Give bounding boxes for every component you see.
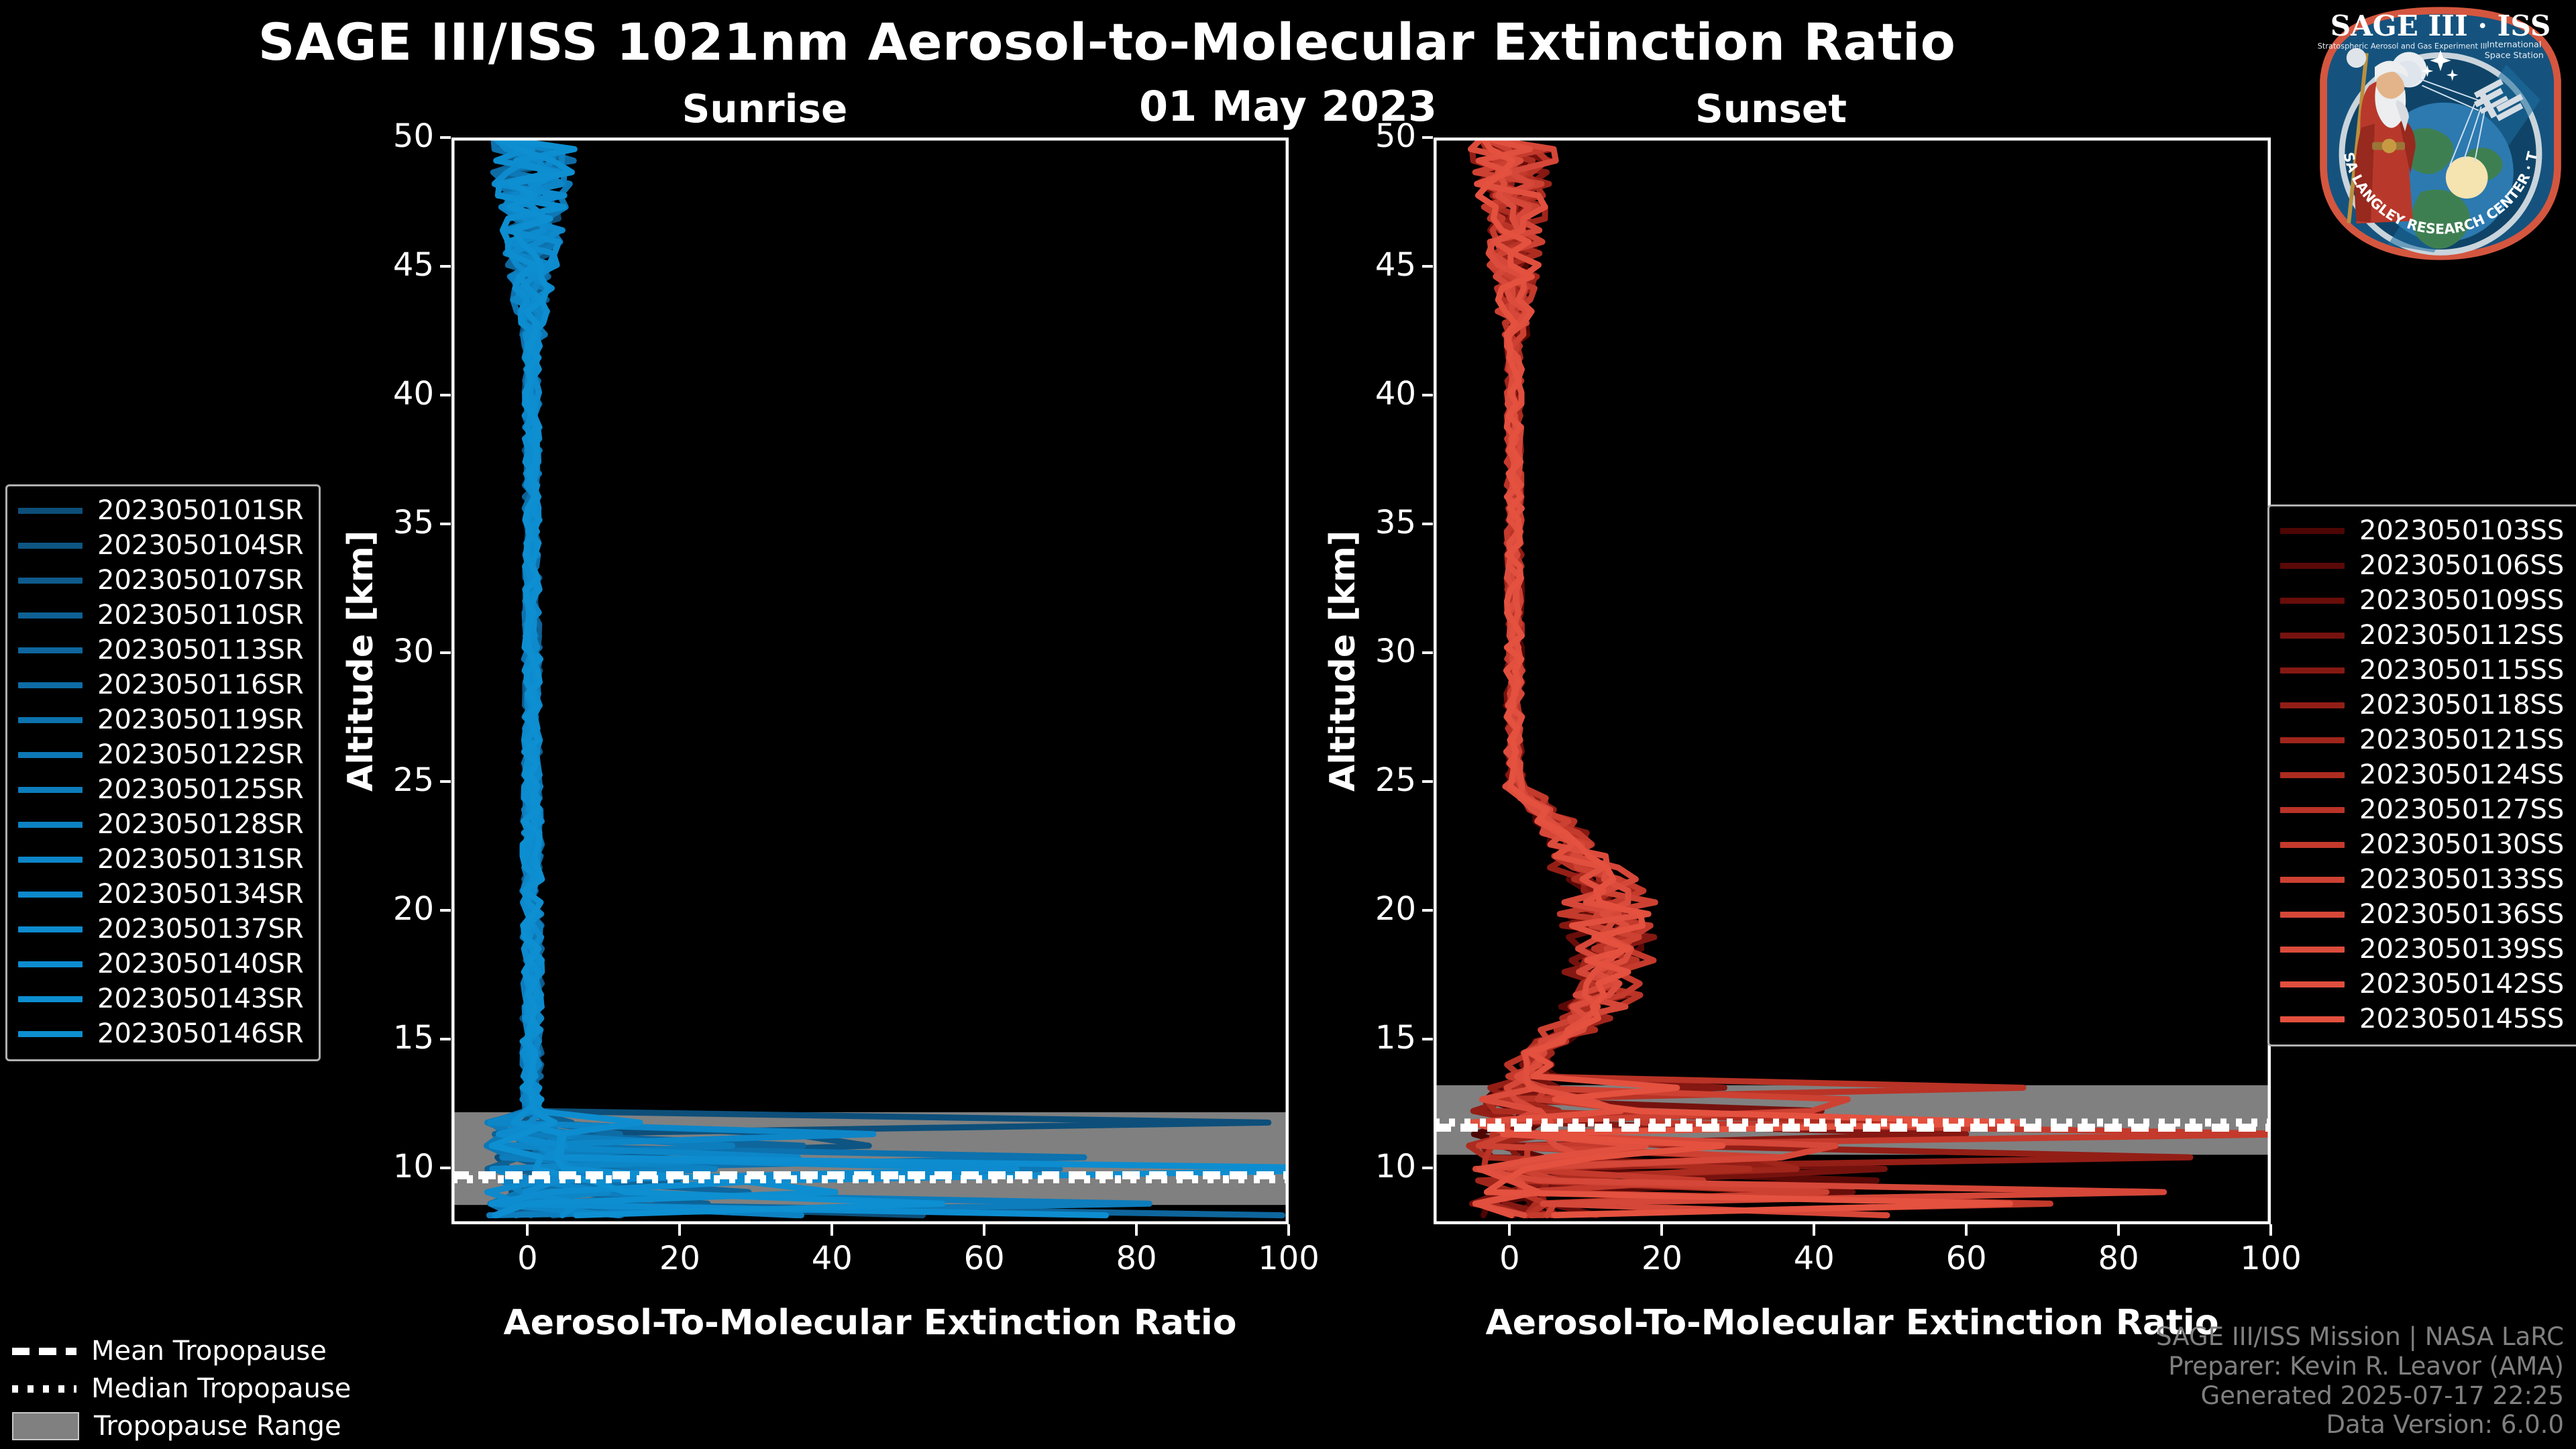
legend-item[interactable]: 2023050104SR	[18, 528, 304, 563]
legend-color-swatch	[18, 612, 83, 619]
tropopause-legend-swatch-dash	[12, 1348, 76, 1355]
y-axis-tick: 40	[354, 375, 434, 413]
x-axis-tick-mark	[526, 1224, 529, 1236]
patch-subtitle-right-1: International	[2487, 40, 2541, 50]
y-axis-tick-mark	[440, 394, 451, 396]
legend-item[interactable]: 2023050113SR	[18, 633, 304, 667]
legend-item[interactable]: 2023050136SS	[2280, 897, 2564, 932]
legend-color-swatch	[2280, 947, 2345, 953]
y-axis-tick-mark	[1422, 780, 1433, 783]
y-axis-tick: 40	[1336, 375, 1416, 413]
legend-color-swatch	[18, 647, 83, 653]
legend-color-swatch	[2280, 563, 2345, 569]
legend-item[interactable]: 2023050130SS	[2280, 827, 2564, 862]
legend-item-label: 2023050139SS	[2359, 934, 2564, 965]
x-axis-tick: 20	[1608, 1240, 1715, 1277]
x-axis-tick: 0	[474, 1240, 581, 1277]
credits-line: Generated 2025-07-17 22:25	[2156, 1381, 2564, 1411]
legend-item[interactable]: 2023050146SR	[18, 1016, 304, 1051]
credits-line: Preparer: Kevin R. Leavor (AMA)	[2156, 1352, 2564, 1381]
tropopause-legend-swatch-box	[12, 1412, 79, 1440]
patch-subtitle-left: Stratospheric Aerosol and Gas Experiment…	[2318, 42, 2487, 51]
y-axis-tick-mark	[440, 136, 451, 139]
legend-item-label: 2023050110SR	[97, 600, 304, 631]
tropopause-legend-item[interactable]: Mean Tropopause	[12, 1332, 351, 1370]
plot-background	[451, 138, 1289, 1224]
y-axis-tick-mark	[1422, 136, 1433, 139]
legend-item[interactable]: 2023050124SS	[2280, 757, 2564, 792]
y-axis-tick-mark	[1422, 1038, 1433, 1040]
legend-color-swatch	[18, 1031, 83, 1037]
y-axis-tick-mark	[1422, 265, 1433, 268]
legend-item[interactable]: 2023050101SR	[18, 493, 304, 528]
y-axis-tick-mark	[440, 651, 451, 654]
legend-color-swatch	[18, 578, 83, 584]
legend-item[interactable]: 2023050106SS	[2280, 548, 2564, 583]
y-axis-tick: 10	[354, 1148, 434, 1185]
legend-color-swatch	[18, 682, 83, 688]
legend-item-label: 2023050134SR	[97, 879, 304, 910]
legend-item-label: 2023050145SS	[2359, 1004, 2564, 1034]
legend-item[interactable]: 2023050109SS	[2280, 583, 2564, 618]
legend-color-swatch	[18, 543, 83, 549]
y-axis-tick-mark	[1422, 1167, 1433, 1169]
patch-subtitle-right-2: Space Station	[2485, 50, 2544, 60]
y-axis-tick: 50	[354, 117, 434, 155]
y-axis-tick: 35	[354, 504, 434, 541]
legend-item-label: 2023050122SR	[97, 739, 304, 770]
x-axis-tick-mark	[1508, 1224, 1511, 1236]
x-axis-tick: 40	[1760, 1240, 1868, 1277]
tropopause-legend-label: Mean Tropopause	[91, 1336, 327, 1366]
y-axis-tick: 20	[354, 890, 434, 928]
legend-item[interactable]: 2023050119SR	[18, 702, 304, 737]
plot-background	[1434, 138, 2271, 1224]
tropopause-legend-item[interactable]: Median Tropopause	[12, 1370, 351, 1407]
y-axis-tick: 20	[1336, 890, 1416, 928]
legend-item[interactable]: 2023050142SS	[2280, 967, 2564, 1002]
legend-item[interactable]: 2023050115SS	[2280, 653, 2564, 688]
legend-color-swatch	[2280, 842, 2345, 848]
y-axis-tick-mark	[440, 909, 451, 912]
y-axis-tick: 15	[1336, 1019, 1416, 1057]
y-axis-tick-mark	[1422, 651, 1433, 654]
x-axis-tick: 60	[1913, 1240, 2020, 1277]
legend-item[interactable]: 2023050125SR	[18, 772, 304, 807]
legend-sunset[interactable]: 2023050103SS2023050106SS2023050109SS2023…	[2267, 504, 2576, 1046]
legend-item[interactable]: 2023050140SR	[18, 947, 304, 981]
legend-item-label: 2023050133SS	[2359, 864, 2564, 895]
legend-item[interactable]: 2023050137SR	[18, 912, 304, 947]
legend-color-swatch	[18, 996, 83, 1002]
legend-item-label: 2023050128SR	[97, 809, 304, 840]
legend-sunrise[interactable]: 2023050101SR2023050104SR2023050107SR2023…	[5, 484, 321, 1061]
y-axis-tick-mark	[1422, 523, 1433, 525]
legend-item-label: 2023050125SR	[97, 774, 304, 805]
x-axis-tick-mark	[830, 1224, 833, 1236]
plot-sunset[interactable]	[1434, 138, 2271, 1224]
legend-item-label: 2023050118SS	[2359, 690, 2564, 720]
legend-item[interactable]: 2023050121SS	[2280, 722, 2564, 757]
credits-line: SAGE III/ISS Mission | NASA LaRC	[2156, 1322, 2564, 1352]
legend-item-label: 2023050136SS	[2359, 899, 2564, 930]
legend-item-label: 2023050103SS	[2359, 515, 2564, 546]
legend-color-swatch	[2280, 528, 2345, 534]
legend-item-label: 2023050142SS	[2359, 969, 2564, 1000]
legend-item[interactable]: 2023050134SR	[18, 877, 304, 912]
legend-item[interactable]: 2023050131SR	[18, 842, 304, 877]
credits-line: Data Version: 6.0.0	[2156, 1410, 2564, 1440]
legend-item-label: 2023050119SR	[97, 704, 304, 735]
legend-item[interactable]: 2023050139SS	[2280, 932, 2564, 967]
legend-item-label: 2023050107SR	[97, 565, 304, 596]
legend-item-label: 2023050109SS	[2359, 585, 2564, 616]
legend-item[interactable]: 2023050145SS	[2280, 1002, 2564, 1036]
legend-item[interactable]: 2023050103SS	[2280, 513, 2564, 548]
y-axis-tick: 10	[1336, 1148, 1416, 1185]
legend-item-label: 2023050131SR	[97, 844, 304, 875]
patch-title: SAGE III · ISS	[2330, 9, 2551, 42]
x-axis-tick-mark	[2269, 1224, 2272, 1236]
legend-item-label: 2023050116SR	[97, 669, 304, 700]
panel-title-sunrise: Sunrise	[624, 86, 906, 131]
legend-color-swatch	[2280, 981, 2345, 987]
x-axis-tick: 0	[1456, 1240, 1563, 1277]
legend-item-label: 2023050140SR	[97, 949, 304, 979]
legend-item-label: 2023050121SS	[2359, 724, 2564, 755]
x-axis-label-left: Aerosol-To-Molecular Extinction Ratio	[451, 1303, 1289, 1343]
legend-item[interactable]: 2023050127SS	[2280, 792, 2564, 827]
legend-item-label: 2023050113SR	[97, 635, 304, 665]
x-axis-tick-mark	[678, 1224, 681, 1236]
y-axis-tick-mark	[1422, 909, 1433, 912]
legend-item[interactable]: 2023050118SS	[2280, 688, 2564, 722]
x-axis-tick: 60	[930, 1240, 1038, 1277]
legend-color-swatch	[18, 926, 83, 932]
y-axis-tick-mark	[1422, 394, 1433, 396]
x-axis-tick: 100	[1235, 1240, 1342, 1277]
y-axis-tick: 25	[1336, 761, 1416, 799]
legend-color-swatch	[2280, 1016, 2345, 1022]
x-axis-tick: 20	[626, 1240, 733, 1277]
x-axis-tick-mark	[1287, 1224, 1290, 1236]
legend-tropopause[interactable]: Mean TropopauseMedian TropopauseTropopau…	[12, 1332, 351, 1445]
y-axis-tick: 25	[354, 761, 434, 799]
y-axis-tick-mark	[440, 1038, 451, 1040]
sage-iii-iss-mission-patch-icon: SAGE III · ISSStratospheric Aerosol and …	[2308, 1, 2573, 264]
y-axis-tick: 15	[354, 1019, 434, 1057]
legend-item[interactable]: 2023050128SR	[18, 807, 304, 842]
y-axis-tick-mark	[440, 523, 451, 525]
y-axis-tick-mark	[440, 265, 451, 268]
legend-color-swatch	[18, 752, 83, 758]
panel-title-sunset: Sunset	[1630, 86, 1912, 131]
x-axis-tick: 80	[2065, 1240, 2172, 1277]
legend-item[interactable]: 2023050110SR	[18, 598, 304, 633]
legend-item-label: 2023050104SR	[97, 530, 304, 561]
legend-color-swatch	[2280, 667, 2345, 674]
tropopause-legend-swatch-dot	[12, 1385, 76, 1393]
x-axis-tick-mark	[1813, 1224, 1815, 1236]
legend-item-label: 2023050127SS	[2359, 794, 2564, 825]
legend-item-label: 2023050106SS	[2359, 550, 2564, 581]
legend-item[interactable]: 2023050143SR	[18, 981, 304, 1016]
legend-color-swatch	[18, 961, 83, 967]
y-axis-tick: 30	[354, 633, 434, 670]
y-axis-tick: 35	[1336, 504, 1416, 541]
y-axis-tick-mark	[440, 1167, 451, 1169]
y-axis-tick: 30	[1336, 633, 1416, 670]
legend-color-swatch	[2280, 702, 2345, 708]
legend-color-swatch	[18, 822, 83, 828]
legend-item-label: 2023050115SS	[2359, 655, 2564, 686]
plot-sunrise[interactable]	[451, 138, 1289, 1224]
y-axis-tick: 45	[1336, 246, 1416, 284]
patch-sun	[2446, 156, 2488, 199]
legend-item-label: 2023050143SR	[97, 983, 304, 1014]
legend-item[interactable]: 2023050112SS	[2280, 618, 2564, 653]
credits-block: SAGE III/ISS Mission | NASA LaRCPreparer…	[2156, 1322, 2564, 1440]
legend-item[interactable]: 2023050122SR	[18, 737, 304, 772]
x-axis-tick-mark	[1660, 1224, 1663, 1236]
tropopause-legend-item[interactable]: Tropopause Range	[12, 1407, 351, 1445]
legend-color-swatch	[18, 857, 83, 863]
legend-color-swatch	[2280, 772, 2345, 778]
legend-color-swatch	[18, 508, 83, 514]
legend-color-swatch	[18, 787, 83, 793]
x-axis-tick: 100	[2217, 1240, 2324, 1277]
y-axis-tick: 45	[354, 246, 434, 284]
legend-color-swatch	[2280, 598, 2345, 604]
legend-color-swatch	[2280, 737, 2345, 743]
legend-item[interactable]: 2023050133SS	[2280, 862, 2564, 897]
legend-color-swatch	[18, 717, 83, 723]
x-axis-tick-mark	[1965, 1224, 1968, 1236]
legend-color-swatch	[18, 892, 83, 898]
legend-item[interactable]: 2023050116SR	[18, 667, 304, 702]
x-axis-tick-mark	[983, 1224, 985, 1236]
legend-item[interactable]: 2023050107SR	[18, 563, 304, 598]
x-axis-tick: 40	[778, 1240, 885, 1277]
tropopause-legend-label: Tropopause Range	[94, 1411, 341, 1442]
legend-color-swatch	[2280, 877, 2345, 883]
legend-item-label: 2023050112SS	[2359, 620, 2564, 651]
x-axis-tick-mark	[2117, 1224, 2120, 1236]
legend-item-label: 2023050137SR	[97, 914, 304, 945]
legend-color-swatch	[2280, 633, 2345, 639]
page-title: SAGE III/ISS 1021nm Aerosol-to-Molecular…	[0, 12, 2214, 72]
y-axis-tick: 50	[1336, 117, 1416, 155]
legend-color-swatch	[2280, 912, 2345, 918]
legend-item-label: 2023050124SS	[2359, 759, 2564, 790]
legend-item-label: 2023050130SS	[2359, 829, 2564, 860]
x-axis-tick: 80	[1083, 1240, 1190, 1277]
legend-item-label: 2023050101SR	[97, 495, 304, 526]
y-axis-tick-mark	[440, 780, 451, 783]
legend-color-swatch	[2280, 807, 2345, 813]
tropopause-legend-label: Median Tropopause	[91, 1373, 351, 1404]
x-axis-tick-mark	[1135, 1224, 1138, 1236]
x-axis-label-right: Aerosol-To-Molecular Extinction Ratio	[1434, 1303, 2271, 1343]
legend-item-label: 2023050146SR	[97, 1018, 304, 1049]
